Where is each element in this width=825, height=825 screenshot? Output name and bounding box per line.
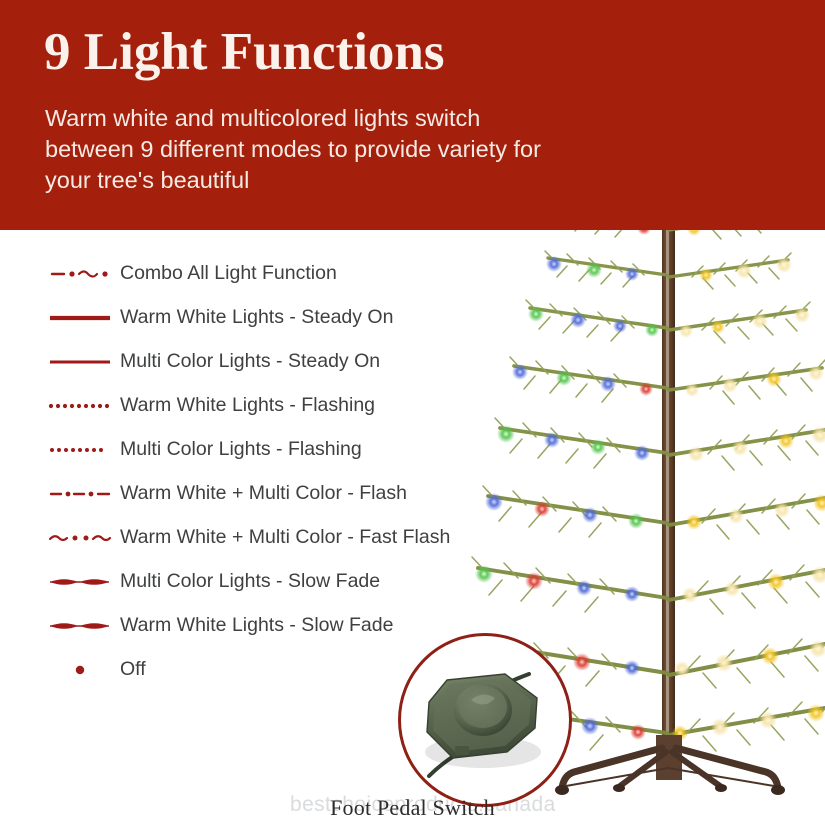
list-item: Multi Color Lights - Slow Fade (44, 560, 524, 604)
dotted-line-marker (44, 384, 116, 428)
page-title: 9 Light Functions (44, 22, 445, 82)
dotted-line-marker (44, 428, 116, 472)
list-item-label: Warm White + Multi Color - Fast Flash (116, 528, 450, 548)
list-item: Multi Color Lights - Steady On (44, 340, 524, 384)
infographic-page: 9 Light Functions Warm white and multico… (0, 0, 825, 825)
list-item-label: Warm White + Multi Color - Flash (116, 484, 407, 504)
single-dot-marker (44, 648, 116, 692)
dash-dot-dash-marker (44, 472, 116, 516)
foot-pedal-inset (398, 633, 572, 807)
list-item: Warm White + Multi Color - Flash (44, 472, 524, 516)
list-item: Combo All Light Function (44, 252, 524, 296)
header-banner: 9 Light Functions Warm white and multico… (0, 0, 825, 230)
list-item-label: Multi Color Lights - Steady On (116, 352, 380, 372)
list-item: Warm White Lights - Steady On (44, 296, 524, 340)
wave-dot-dot-wave-marker (44, 516, 116, 560)
solid-line-marker (44, 340, 116, 384)
list-item-label: Multi Color Lights - Flashing (116, 440, 362, 460)
tree-stand (555, 735, 785, 795)
slow-fade-lens-marker (44, 604, 116, 648)
light-functions-legend: Combo All Light Function Warm White Ligh… (44, 252, 524, 692)
solid-line-marker (44, 296, 116, 340)
list-item-label: Multi Color Lights - Slow Fade (116, 572, 380, 592)
list-item-label: Warm White Lights - Slow Fade (116, 616, 393, 636)
list-item: Multi Color Lights - Flashing (44, 428, 524, 472)
list-item: Warm White Lights - Flashing (44, 384, 524, 428)
list-item-label: Combo All Light Function (116, 264, 337, 284)
page-subtitle: Warm white and multicolored lights switc… (45, 103, 565, 196)
dash-dot-wave-dot-marker (44, 252, 116, 296)
list-item-label: Off (116, 660, 146, 680)
slow-fade-lens-marker (44, 560, 116, 604)
list-item-label: Warm White Lights - Flashing (116, 396, 375, 416)
inset-caption: Foot Pedal Switch (0, 795, 825, 821)
list-item: Warm White + Multi Color - Fast Flash (44, 516, 524, 560)
list-item-label: Warm White Lights - Steady On (116, 308, 393, 328)
